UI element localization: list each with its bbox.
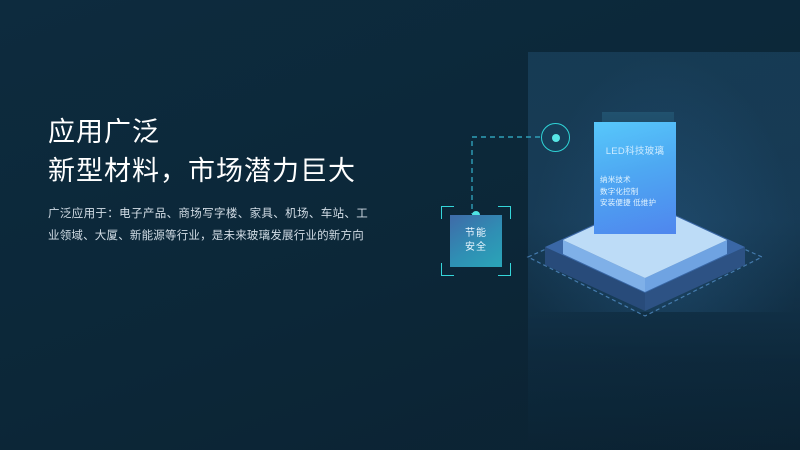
presentation-slide: 应用广泛 新型材料，市场潜力巨大 广泛应用于：电子产品、商场写字楼、家具、机场、… — [0, 0, 800, 450]
glass-feature-item: 数字化控制 — [600, 186, 676, 198]
glass-feature-item: 安装便捷 低维护 — [600, 197, 676, 209]
text-block: 应用广泛 新型材料，市场潜力巨大 广泛应用于：电子产品、商场写字楼、家具、机场、… — [48, 113, 448, 247]
node-dot-icon — [552, 134, 560, 142]
label-card-line-1: 节能 — [465, 227, 487, 241]
glass-panel[interactable]: LED科技玻璃 纳米技术 数字化控制 安装便捷 低维护 — [594, 122, 676, 234]
headline-line-2: 新型材料，市场潜力巨大 — [48, 151, 448, 191]
glass-feature-item: 纳米技术 — [600, 174, 676, 186]
glass-panel-features: 纳米技术 数字化控制 安装便捷 低维护 — [594, 174, 676, 209]
label-card-energy-safety[interactable]: 节能 安全 — [441, 206, 511, 276]
node-circle-icon[interactable] — [541, 123, 570, 152]
glass-panel-title: LED科技玻璃 — [594, 146, 676, 158]
label-card-line-2: 安全 — [465, 241, 487, 255]
label-card-body: 节能 安全 — [450, 215, 502, 267]
body-paragraph: 广泛应用于：电子产品、商场写字楼、家具、机场、车站、工业领域、大厦、新能源等行业… — [48, 203, 368, 247]
headline-line-1: 应用广泛 — [48, 113, 448, 151]
